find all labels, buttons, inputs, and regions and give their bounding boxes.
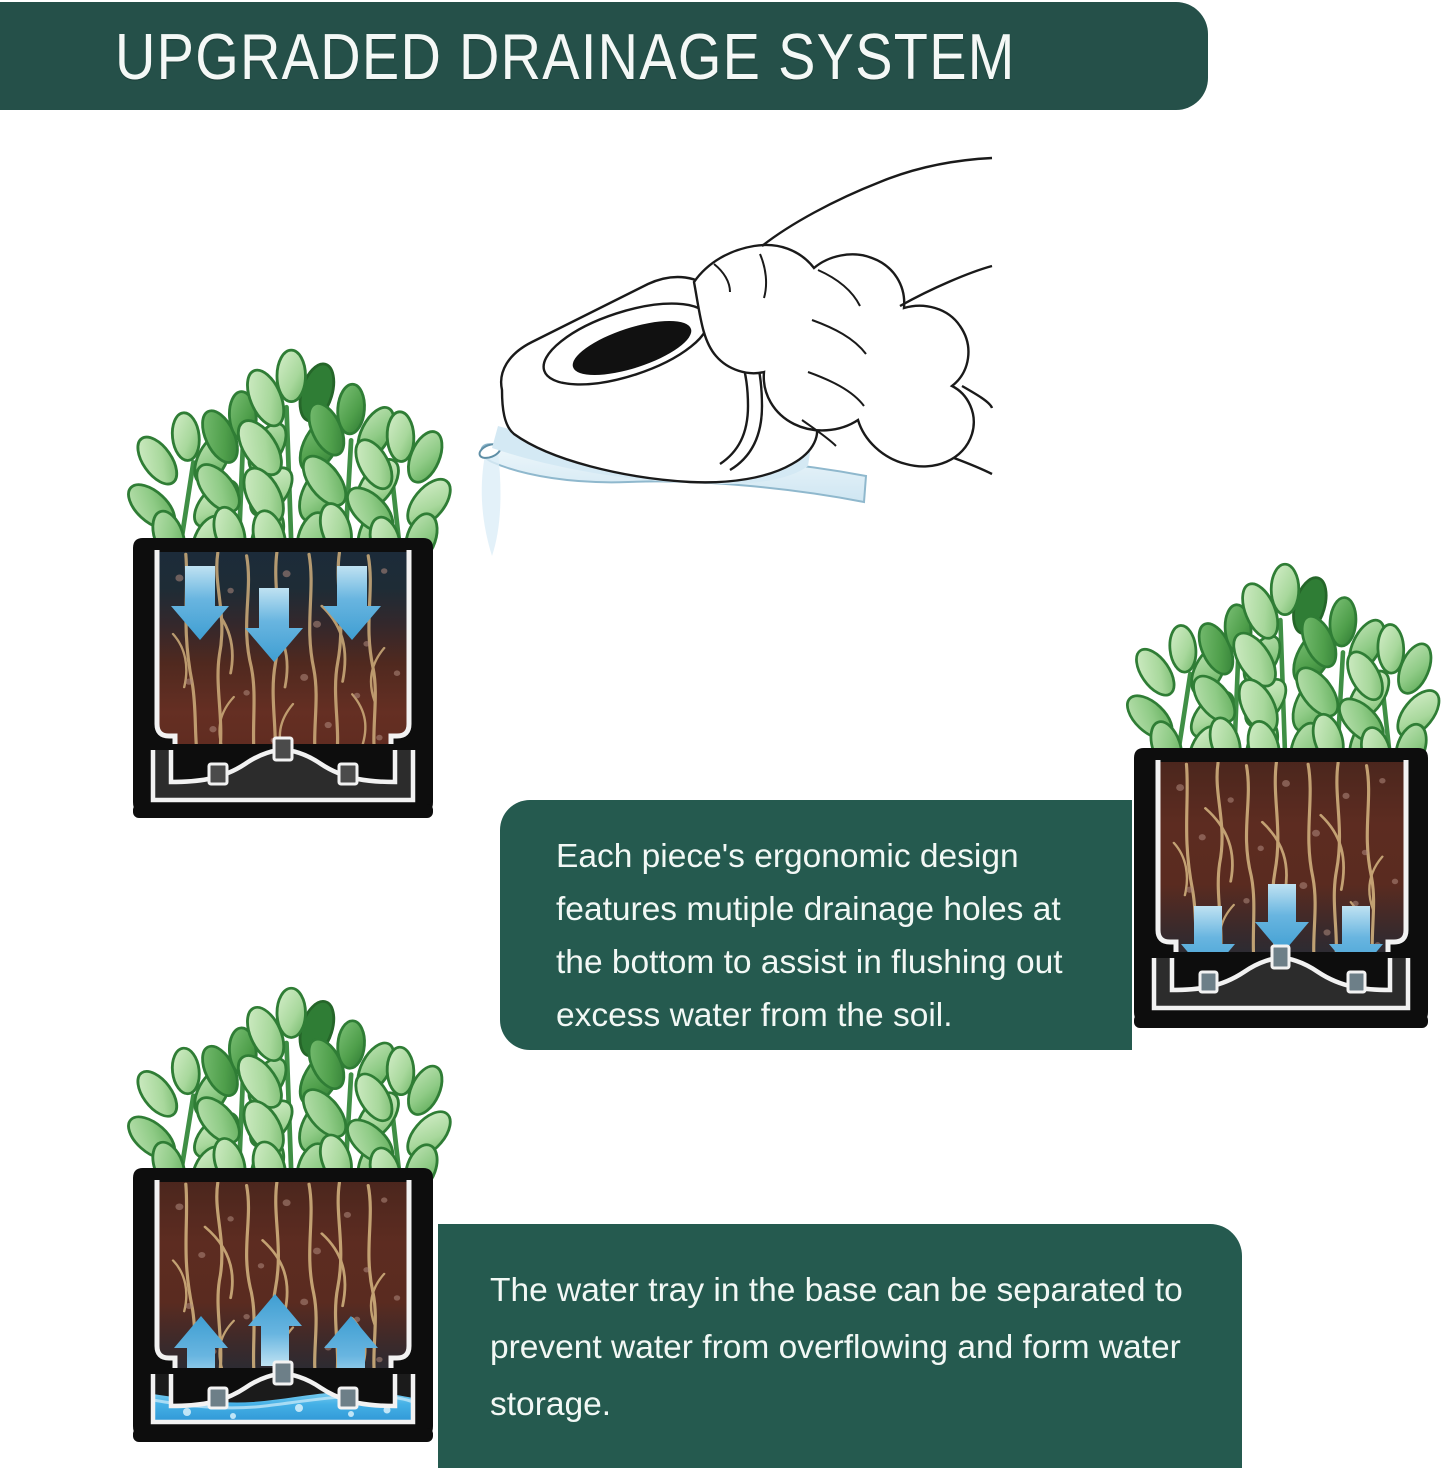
succulent-plant-right — [1120, 564, 1445, 779]
succulent-plant-top-left — [121, 350, 459, 570]
wrist-line — [762, 158, 992, 246]
callout-tray-text: The water tray in the base can be separa… — [490, 1262, 1212, 1433]
callout-water-tray: The water tray in the base can be separa… — [438, 1224, 1242, 1468]
succulent-plant-bottom-left — [121, 988, 459, 1198]
pot-base-shadow-bottom — [133, 1428, 433, 1442]
planter-top-left — [113, 352, 453, 852]
callout-drainage-text: Each piece's ergonomic design features m… — [556, 830, 1098, 1042]
planter-bottom-left — [113, 990, 453, 1468]
planter-right — [1120, 562, 1445, 1062]
watering-can-illustration — [462, 158, 992, 560]
page-title: UPGRADED DRAINAGE SYSTEM — [115, 19, 1016, 94]
header-banner: UPGRADED DRAINAGE SYSTEM — [0, 2, 1208, 110]
callout-drainage-holes: Each piece's ergonomic design features m… — [500, 800, 1132, 1050]
pot-base-shadow-right — [1134, 1014, 1428, 1028]
pot-base-shadow-top-left — [133, 804, 433, 818]
water-fall — [482, 450, 501, 556]
